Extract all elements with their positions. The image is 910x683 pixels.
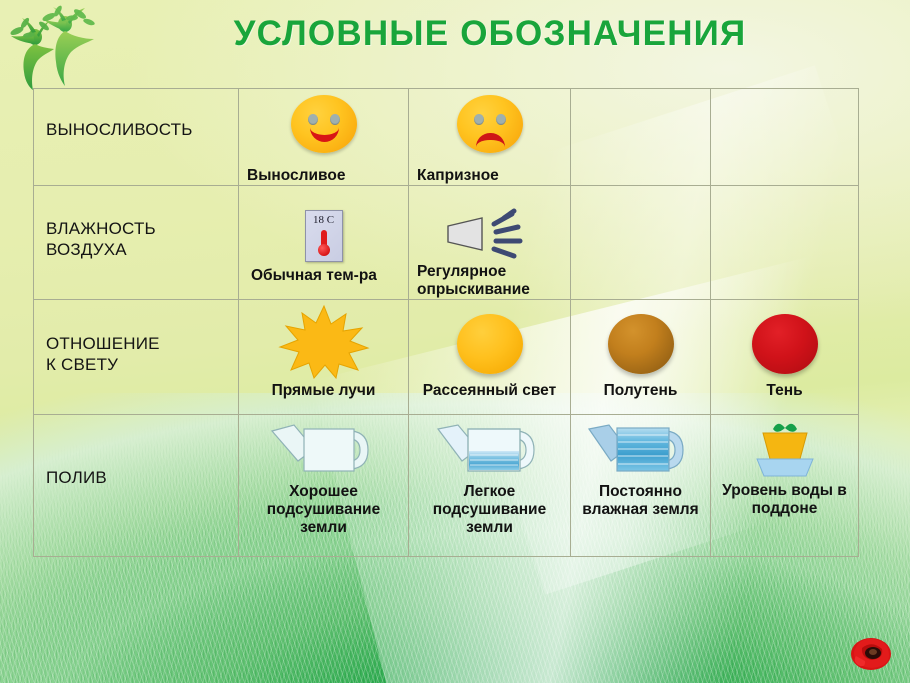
cell-empty-1-3 — [571, 89, 711, 186]
caption-diffuse-light: Рассеянный свет — [409, 374, 570, 400]
eye-left — [308, 114, 318, 125]
cell-empty-2-3 — [571, 186, 711, 300]
smiley-happy-icon — [291, 95, 357, 153]
cell-direct-rays: Прямые лучи — [239, 299, 409, 414]
table-row: ВЫНОСЛИВОСТЬ Выносливое Капризное — [34, 89, 859, 186]
caption-hardy: Выносливое — [239, 153, 408, 185]
cell-good-drying: Хорошее подсушивание земли — [239, 414, 409, 556]
row-label-text: ВЫНОСЛИВОСТЬ — [46, 119, 238, 140]
cell-normal-temp: 18 C Обычная тем-ра — [239, 186, 409, 300]
watering-can-empty-icon — [268, 423, 380, 479]
eye-right — [330, 114, 340, 125]
cell-constantly-moist: Постоянно влажная земля — [571, 414, 711, 556]
circle-red-icon — [752, 314, 818, 374]
row-label-hardiness: ВЫНОСЛИВОСТЬ — [34, 89, 239, 186]
pot-in-tray-icon — [747, 419, 823, 479]
circle-brown-icon — [608, 314, 674, 374]
caption-capricious: Капризное — [409, 153, 570, 185]
row-label-text: ПОЛИВ — [46, 467, 238, 488]
sunburst-icon — [278, 304, 370, 380]
caption-light-drying: Легкое подсушивание земли — [409, 479, 570, 537]
cell-shade: Тень — [711, 299, 859, 414]
row-label-text-2: ВОЗДУХА — [46, 239, 238, 260]
cell-light-drying: Легкое подсушивание земли — [409, 414, 571, 556]
caption-constantly-moist: Постоянно влажная земля — [571, 479, 710, 519]
watering-can-half-icon — [434, 423, 546, 479]
caption-partial-shade: Полутень — [571, 374, 710, 400]
mouth-smile — [310, 127, 339, 142]
cell-partial-shade: Полутень — [571, 299, 711, 414]
thermometer-icon: 18 C — [305, 210, 343, 262]
cell-water-in-tray: Уровень воды в поддоне — [711, 414, 859, 556]
row-label-air-humidity: ВЛАЖНОСТЬ ВОЗДУХА — [34, 186, 239, 300]
smiley-sad-icon — [457, 95, 523, 153]
caption-water-in-tray: Уровень воды в поддоне — [711, 479, 858, 518]
caption-good-drying: Хорошее подсушивание земли — [239, 479, 408, 537]
watering-can-full-icon — [585, 423, 697, 479]
thermometer-bulb — [318, 244, 330, 256]
caption-normal-temp: Обычная тем-ра — [239, 262, 408, 285]
caption-regular-spraying: Регулярное опрыскивание — [409, 260, 570, 299]
cell-hardy: Выносливое — [239, 89, 409, 186]
cell-empty-2-4 — [711, 186, 859, 300]
caption-direct-rays: Прямые лучи — [239, 380, 408, 400]
row-label-text-2: К СВЕТУ — [46, 354, 238, 375]
cell-empty-1-4 — [711, 89, 859, 186]
cell-capricious: Капризное — [409, 89, 571, 186]
table-row: ОТНОШЕНИЕ К СВЕТУ Прямые лучи Рассеянный… — [34, 299, 859, 414]
mouth-frown — [476, 133, 505, 147]
table-row: ПОЛИВ Хорошее подсушивание земли — [34, 414, 859, 556]
row-label-text: ВЛАЖНОСТЬ — [46, 218, 238, 239]
eye-left — [474, 114, 484, 125]
poppy-flower-icon — [848, 630, 894, 672]
row-label-watering: ПОЛИВ — [34, 414, 239, 556]
page-title: УСЛОВНЫЕ ОБОЗНАЧЕНИЯ — [120, 14, 860, 54]
plant-people-logo — [2, 2, 106, 94]
row-label-text: ОТНОШЕНИЕ — [46, 333, 238, 354]
table-row: ВЛАЖНОСТЬ ВОЗДУХА 18 C Обычная тем-ра — [34, 186, 859, 300]
legend-table: ВЫНОСЛИВОСТЬ Выносливое Капризное — [33, 88, 859, 557]
circle-yellow-icon — [457, 314, 523, 374]
temperature-value: 18 C — [306, 214, 342, 226]
cell-diffuse-light: Рассеянный свет — [409, 299, 571, 414]
cell-regular-spraying: Регулярное опрыскивание — [409, 186, 571, 300]
eye-right — [496, 114, 506, 125]
row-label-light-relation: ОТНОШЕНИЕ К СВЕТУ — [34, 299, 239, 414]
caption-shade: Тень — [711, 374, 858, 400]
sprayer-icon — [442, 208, 538, 260]
